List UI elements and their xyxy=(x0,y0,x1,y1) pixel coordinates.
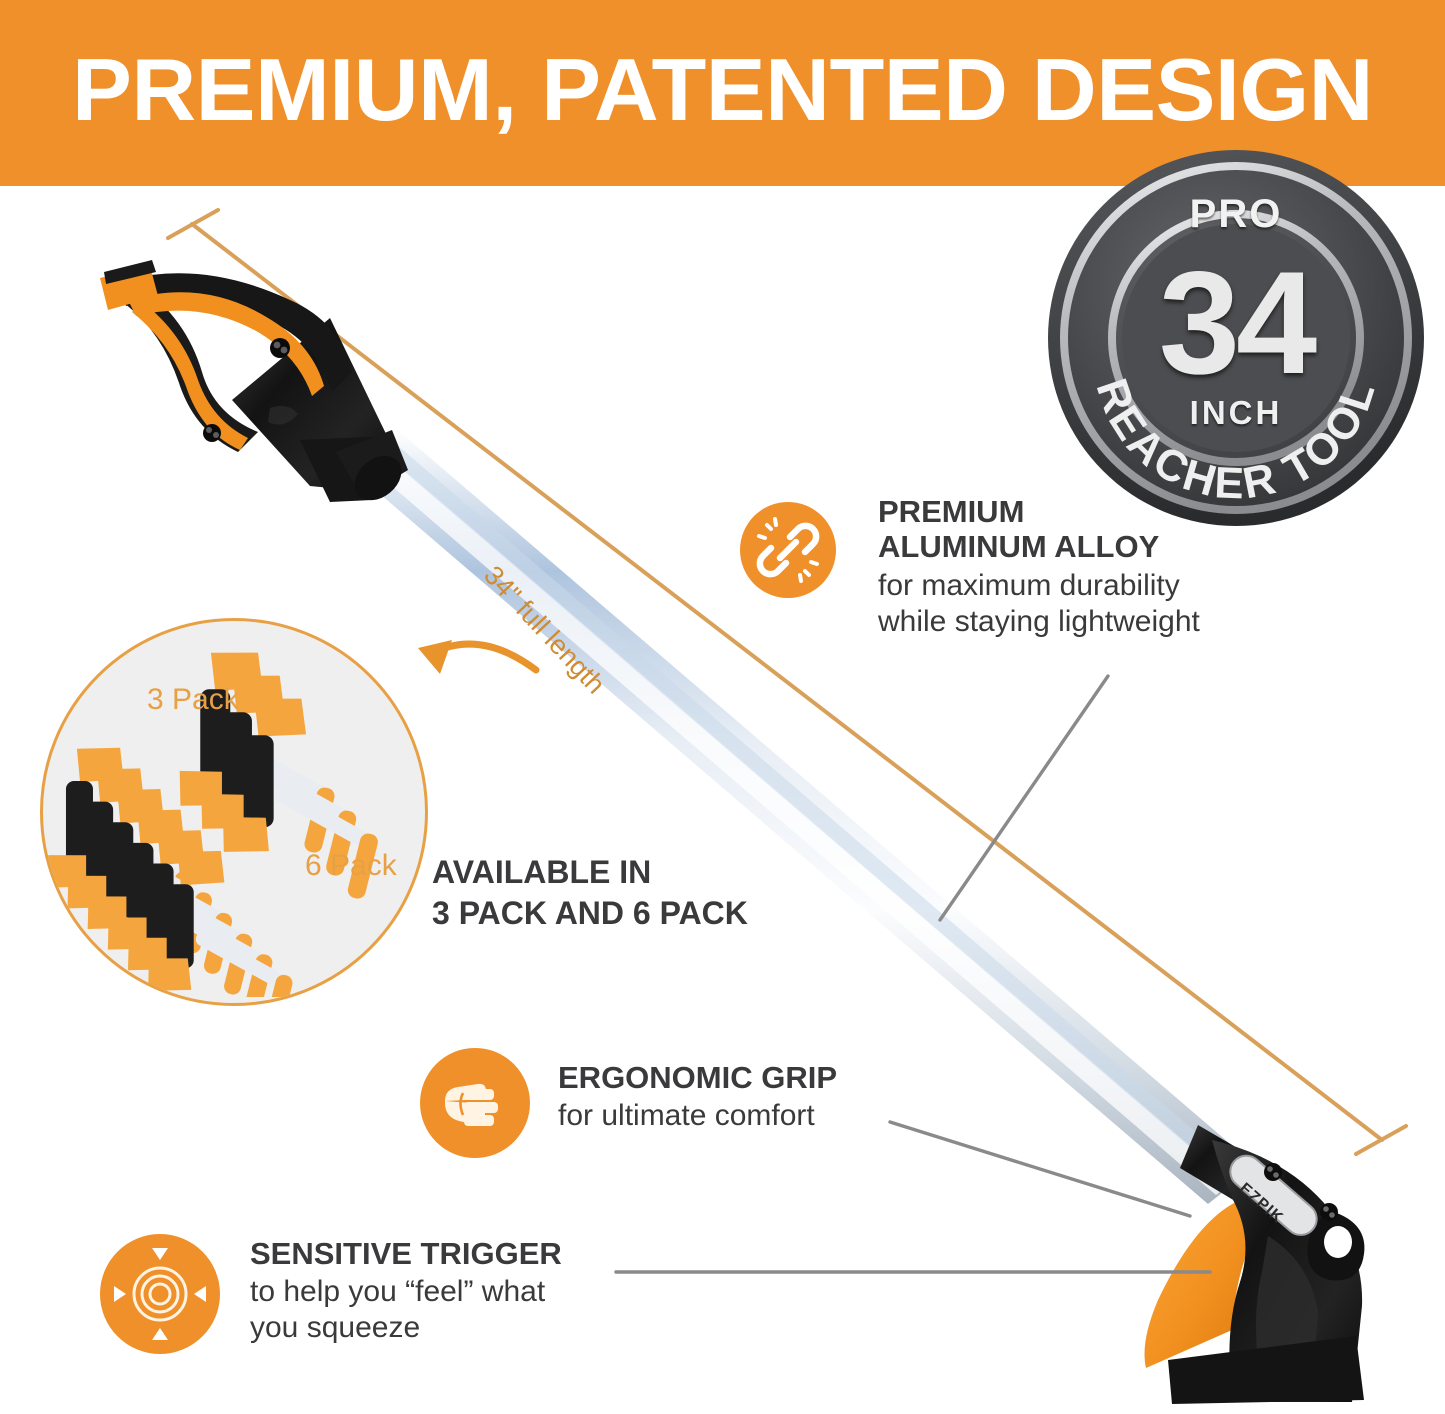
callout-aluminum-alloy: PREMIUM ALUMINUM ALLOY for maximum durab… xyxy=(740,494,1300,664)
callout-sensitive-trigger: SENSITIVE TRIGGER to help you “feel” wha… xyxy=(100,1230,620,1380)
callout-grip-head-1: ERGONOMIC GRIP xyxy=(558,1060,898,1095)
callout-trigger-sub-2: you squeeze xyxy=(250,1310,620,1346)
pro-reacher-badge: REACHER TOOL PRO 34 INCH xyxy=(1046,148,1426,528)
pack-pointer-arrow xyxy=(418,640,536,674)
callout-aluminum-sub-1: for maximum durability xyxy=(878,568,1298,604)
pack-6-label: 6 Pack xyxy=(305,849,397,883)
pack-3-label: 3 Pack xyxy=(147,683,239,717)
pack-availability-line2: 3 PACK AND 6 PACK xyxy=(432,893,748,934)
pack-variants-inset: 3 Pack 6 Pack xyxy=(40,618,428,1006)
target-arrows-icon xyxy=(100,1234,220,1354)
pack-variants-image xyxy=(43,621,419,997)
callout-trigger-head-1: SENSITIVE TRIGGER xyxy=(250,1236,620,1271)
callout-grip-sub-1: for ultimate comfort xyxy=(558,1098,898,1134)
pack-availability-text: AVAILABLE IN 3 PACK AND 6 PACK xyxy=(432,852,748,934)
callout-trigger-sub-1: to help you “feel” what xyxy=(250,1274,620,1310)
pack-availability-line1: AVAILABLE IN xyxy=(432,852,748,893)
leader-line-aluminum xyxy=(940,676,1108,920)
fist-grip-icon xyxy=(420,1048,530,1158)
callout-aluminum-sub-2: while staying lightweight xyxy=(878,604,1298,640)
chain-link-icon xyxy=(740,502,836,598)
callout-ergonomic-grip: ERGONOMIC GRIP for ultimate comfort xyxy=(420,1048,900,1168)
callout-aluminum-head-1: PREMIUM xyxy=(878,494,1298,529)
gripper-claw-head xyxy=(100,260,410,509)
callout-aluminum-head-2: ALUMINUM ALLOY xyxy=(878,529,1298,564)
